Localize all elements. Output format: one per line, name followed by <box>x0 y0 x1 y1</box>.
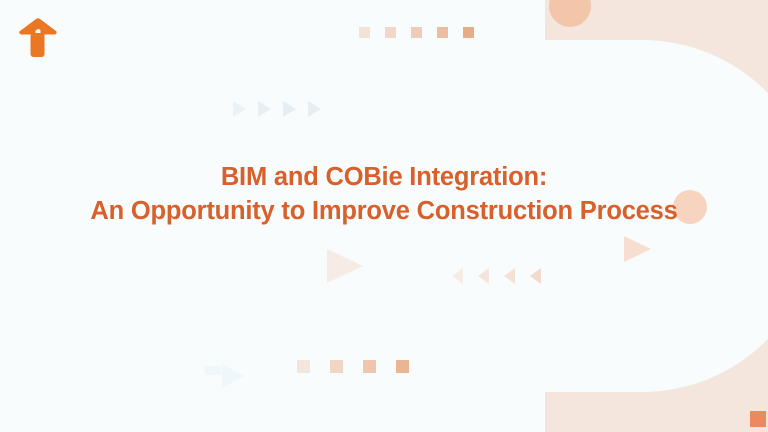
t-arrow-logo-icon <box>16 14 58 60</box>
t-arrow-logo[interactable] <box>16 14 58 60</box>
page-title-line-2: An Opportunity to Improve Construction P… <box>0 194 768 228</box>
faint-shapes-bottom-left <box>205 364 244 388</box>
accent-square-corner <box>750 411 766 427</box>
play-triangle-center <box>327 249 363 283</box>
accent-circle-top <box>549 0 591 27</box>
play-triangle-right <box>624 236 651 262</box>
presentation-slide: BIM and COBie Integration: An Opportunit… <box>0 0 768 432</box>
squares-bottom-row <box>297 360 409 373</box>
chevrons-middle <box>452 268 541 284</box>
title-block: BIM and COBie Integration: An Opportunit… <box>0 160 768 228</box>
page-title-line-1: BIM and COBie Integration: <box>0 160 768 194</box>
squares-top-row <box>359 27 474 38</box>
chevrons-top <box>233 101 321 117</box>
